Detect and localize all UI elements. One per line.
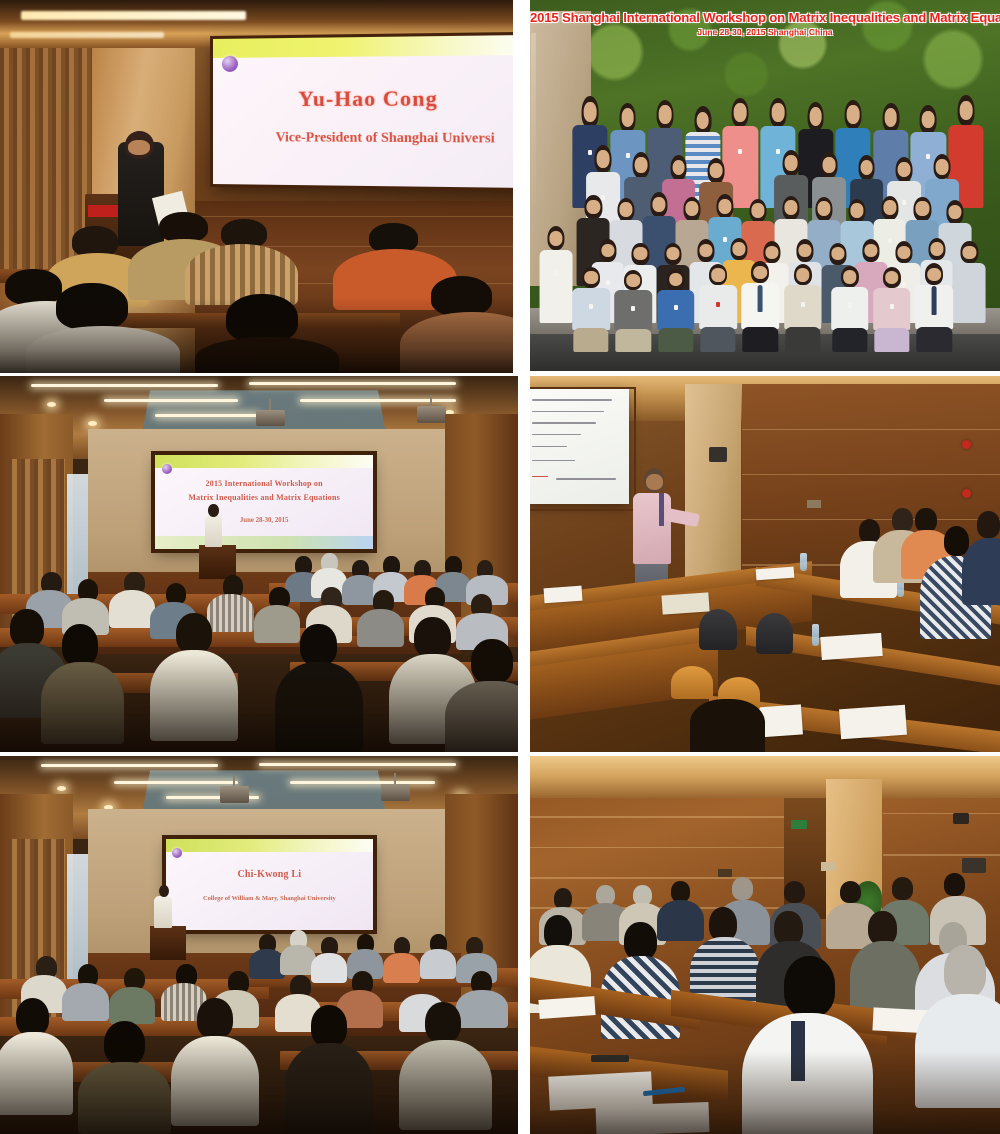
attendee-seated [657, 266, 695, 352]
speaker-lanyard [659, 493, 665, 527]
attendee-seated [831, 264, 869, 352]
paper-sheet [539, 996, 597, 1019]
attendee-seated [742, 261, 780, 352]
slide-title-line2: Matrix Inequalities and Matrix Equations [155, 493, 373, 504]
paper-sheet [755, 566, 793, 580]
ceiling-projector [381, 784, 410, 801]
slide-subtitle: Vice-President of Shanghai Universi [213, 129, 513, 147]
audience-body [62, 983, 109, 1021]
lecture-room-scene-1: Yu-Hao Cong Vice-President of Shanghai U… [0, 0, 513, 373]
audience-head [784, 881, 805, 904]
audience-shoulders [185, 244, 298, 305]
audience-head [596, 885, 615, 906]
chair [756, 613, 794, 654]
attendee-seated [615, 267, 653, 352]
audience-body [254, 605, 301, 643]
audience-head [10, 609, 44, 647]
wall-seam [742, 429, 1000, 431]
audience-head [774, 911, 802, 945]
audience-head [915, 508, 936, 532]
attendee-seated [699, 263, 737, 352]
audience-body [357, 609, 404, 647]
attendee-seated [784, 263, 822, 352]
speaker-face [128, 140, 150, 155]
wall-speaker-icon [709, 447, 728, 462]
slide-footer-image [155, 536, 373, 549]
foreground-shadow [0, 654, 518, 752]
speaker-face [646, 474, 663, 490]
audience-body [109, 987, 156, 1025]
projection-screen-5: Chi-Kwong Li College of William & Mary, … [166, 839, 373, 930]
projection-screen-3: 2015 International Workshop on Matrix In… [155, 455, 373, 549]
wall-seam [742, 474, 1000, 476]
lecture-hall-scene-3: 2015 International Workshop on Matrix In… [0, 376, 518, 752]
ceiling-light [300, 399, 455, 402]
paper-sheet [839, 705, 907, 740]
audience-head [868, 911, 896, 945]
audience-head [414, 617, 450, 658]
board-frame [530, 387, 636, 511]
audience-head [671, 881, 690, 902]
wall-seam [530, 877, 821, 879]
ceiling-light [104, 399, 239, 402]
exit-sign-icon [791, 820, 807, 829]
audience-body [962, 538, 1000, 606]
slide-subtitle: College of William & Mary, Shanghai Univ… [166, 895, 373, 902]
speaker-head [208, 504, 218, 517]
wall-seam [883, 813, 1000, 815]
slide-title-line1: 2015 International Workshop on [155, 479, 373, 490]
audience-head [633, 885, 652, 906]
foreground-shadow [0, 1036, 518, 1134]
audience-head [709, 907, 737, 941]
slide-title: Chi-Kwong Li [166, 868, 373, 882]
panel-opening-ceremony: Yu-Hao Cong Vice-President of Shanghai U… [0, 0, 513, 373]
speaker-bag [661, 592, 709, 614]
audience-body [850, 941, 921, 1017]
ceiling-light [259, 763, 456, 766]
panel-audience-side-view [530, 756, 1000, 1134]
audience-head [892, 508, 913, 532]
foreground-head [690, 699, 765, 752]
audience-body [657, 900, 704, 942]
university-logo-icon [222, 56, 238, 72]
projection-screen-1: Yu-Hao Cong Vice-President of Shanghai U… [213, 35, 513, 189]
speaker-body [205, 515, 223, 547]
foreground-head-2 [944, 945, 986, 998]
chair [699, 609, 737, 650]
chair [671, 666, 713, 700]
audience-head [16, 998, 50, 1036]
audience-head [159, 212, 208, 242]
speaker-body [154, 896, 172, 928]
audience-head [624, 922, 657, 960]
ceiling-projector [256, 410, 285, 427]
ceiling-light [114, 781, 238, 784]
university-logo-icon [172, 848, 182, 858]
wall-panel-switch [821, 862, 835, 871]
audience-head [732, 877, 753, 900]
audience-head [369, 223, 418, 253]
ceiling-light [249, 382, 456, 385]
attendee-seated [915, 262, 953, 352]
speaker-body [633, 493, 671, 564]
panel-lecture-hall-wide: 2015 International Workshop on Matrix In… [0, 376, 518, 752]
slide-header-bar [166, 839, 373, 852]
audience-body [109, 590, 156, 628]
audience-body [383, 953, 419, 983]
audience-body [311, 953, 347, 983]
audience-body [207, 594, 254, 632]
paper-sheet [544, 585, 583, 603]
ceiling-light-strip-2 [10, 32, 164, 38]
audience-body [456, 990, 508, 1028]
ceiling-light [31, 384, 217, 387]
audience-head [544, 915, 572, 949]
slide-subtitle: June 28-30, 2015 [155, 517, 373, 524]
slide-header-bar [155, 455, 373, 468]
audience-head [554, 888, 573, 909]
group-row-front-seated [530, 249, 1000, 353]
foreground-shadow [530, 1051, 1000, 1134]
wall-switch-icon [807, 500, 821, 508]
wall-seam [883, 854, 1000, 856]
attendee-seated [873, 265, 911, 352]
university-logo-icon [162, 464, 172, 474]
photographer-camera-icon [962, 858, 986, 873]
panel-group-photo: 2015 Shanghai International Workshop on … [530, 0, 1000, 371]
wall-seam [530, 816, 821, 818]
wall-speaker-icon [718, 869, 732, 877]
foreground-shadow [0, 298, 513, 373]
ceiling-light [41, 764, 217, 767]
podium [150, 926, 186, 960]
ceiling [530, 756, 1000, 798]
surveillance-camera-icon [953, 813, 969, 824]
panel-speaker-notes [530, 376, 1000, 752]
ceiling-projector [220, 786, 249, 803]
ceiling-projector [417, 406, 446, 423]
podium [199, 545, 235, 579]
photo-collage: Yu-Hao Cong Vice-President of Shanghai U… [0, 0, 1000, 1134]
audience-head [944, 873, 965, 896]
attendee-seated [572, 265, 610, 352]
ceiling-light-strip [21, 11, 247, 20]
wall-seam [530, 847, 821, 849]
audience-head [72, 226, 118, 256]
ceiling-light [155, 414, 259, 417]
slide-header-bar [213, 35, 513, 58]
lecture-hall-scene-5: Chi-Kwong Li College of William & Mary, … [0, 756, 518, 1134]
audience-head [176, 613, 212, 654]
slide-title: Yu-Hao Cong [213, 86, 513, 112]
audience-head [840, 881, 861, 904]
audience-head [197, 998, 233, 1040]
audience-head [892, 877, 913, 900]
audience-head [977, 511, 1000, 537]
panel-lecture-hall-chi-kwong-li: Chi-Kwong Li College of William & Mary, … [0, 756, 518, 1134]
ceiling-light [290, 781, 435, 784]
foreground-head [784, 956, 836, 1016]
speaker-head [159, 885, 169, 898]
water-bottle [800, 553, 807, 571]
water-bottle [812, 624, 819, 646]
